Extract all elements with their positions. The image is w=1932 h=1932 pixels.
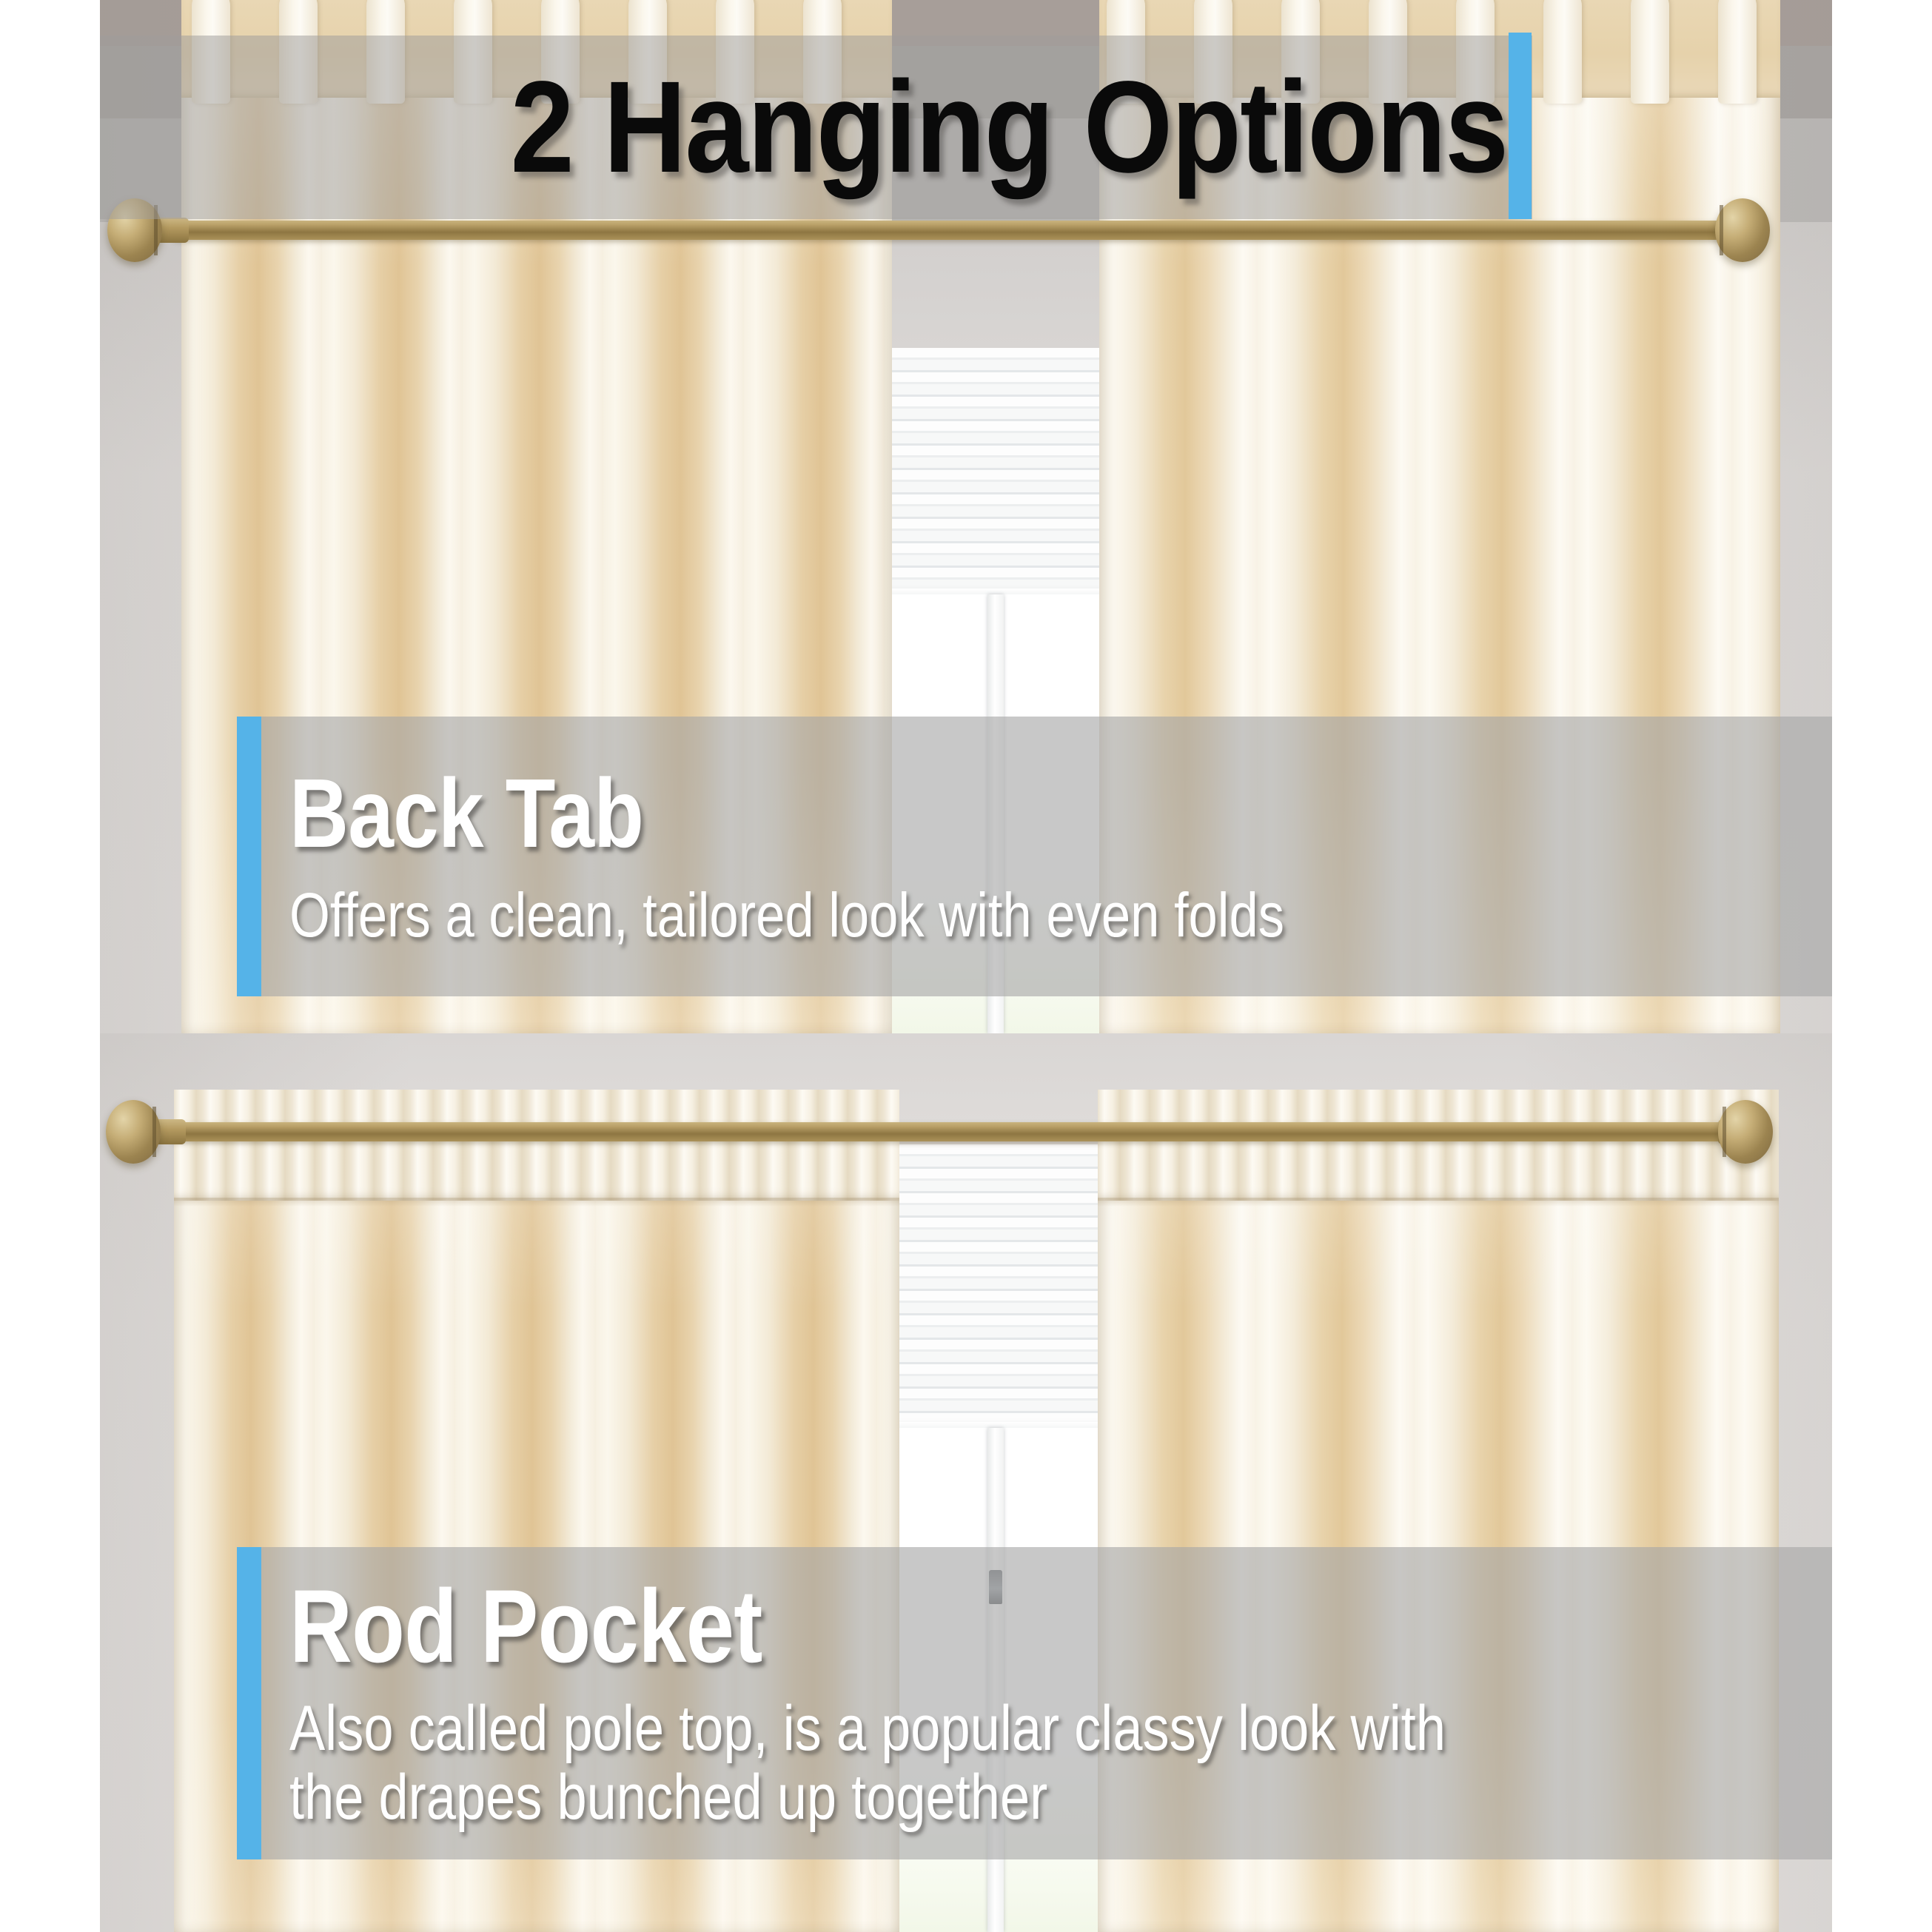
title-banner: 2 Hanging Options — [100, 36, 1532, 219]
accent-bar-back-tab — [237, 717, 261, 996]
description-rod-pocket-line2: the drapes bunched up together — [289, 1763, 1569, 1832]
heading-rod-pocket: Rod Pocket — [289, 1574, 1569, 1678]
curtain-rod-bottom — [167, 1122, 1762, 1141]
rod-finial-right-top — [1715, 198, 1770, 262]
rod-finial-right-bottom — [1718, 1100, 1773, 1164]
accent-bar-rod-pocket — [237, 1547, 261, 1859]
callout-rod-pocket: Rod Pocket Also called pole top, is a po… — [237, 1547, 1832, 1859]
curtain-rod-top — [170, 221, 1760, 240]
description-rod-pocket: Also called pole top, is a popular class… — [289, 1694, 1569, 1832]
heading-back-tab: Back Tab — [289, 765, 1569, 862]
infographic-canvas: 2 Hanging Options Back Tab Offers a clea… — [0, 0, 1932, 1932]
description-rod-pocket-line1: Also called pole top, is a popular class… — [289, 1693, 1446, 1764]
title-accent-bar — [1509, 33, 1532, 219]
page-title: 2 Hanging Options — [510, 62, 1507, 192]
rod-finial-left-bottom — [106, 1100, 161, 1164]
description-back-tab: Offers a clean, tailored look with even … — [289, 882, 1569, 949]
rod-pocket-gathers-left — [174, 1090, 899, 1201]
rod-pocket-lip-right — [1098, 1198, 1779, 1207]
rod-pocket-gathers-right — [1098, 1090, 1779, 1201]
rod-pocket-lip-left — [174, 1198, 899, 1207]
callout-back-tab: Back Tab Offers a clean, tailored look w… — [237, 717, 1832, 996]
